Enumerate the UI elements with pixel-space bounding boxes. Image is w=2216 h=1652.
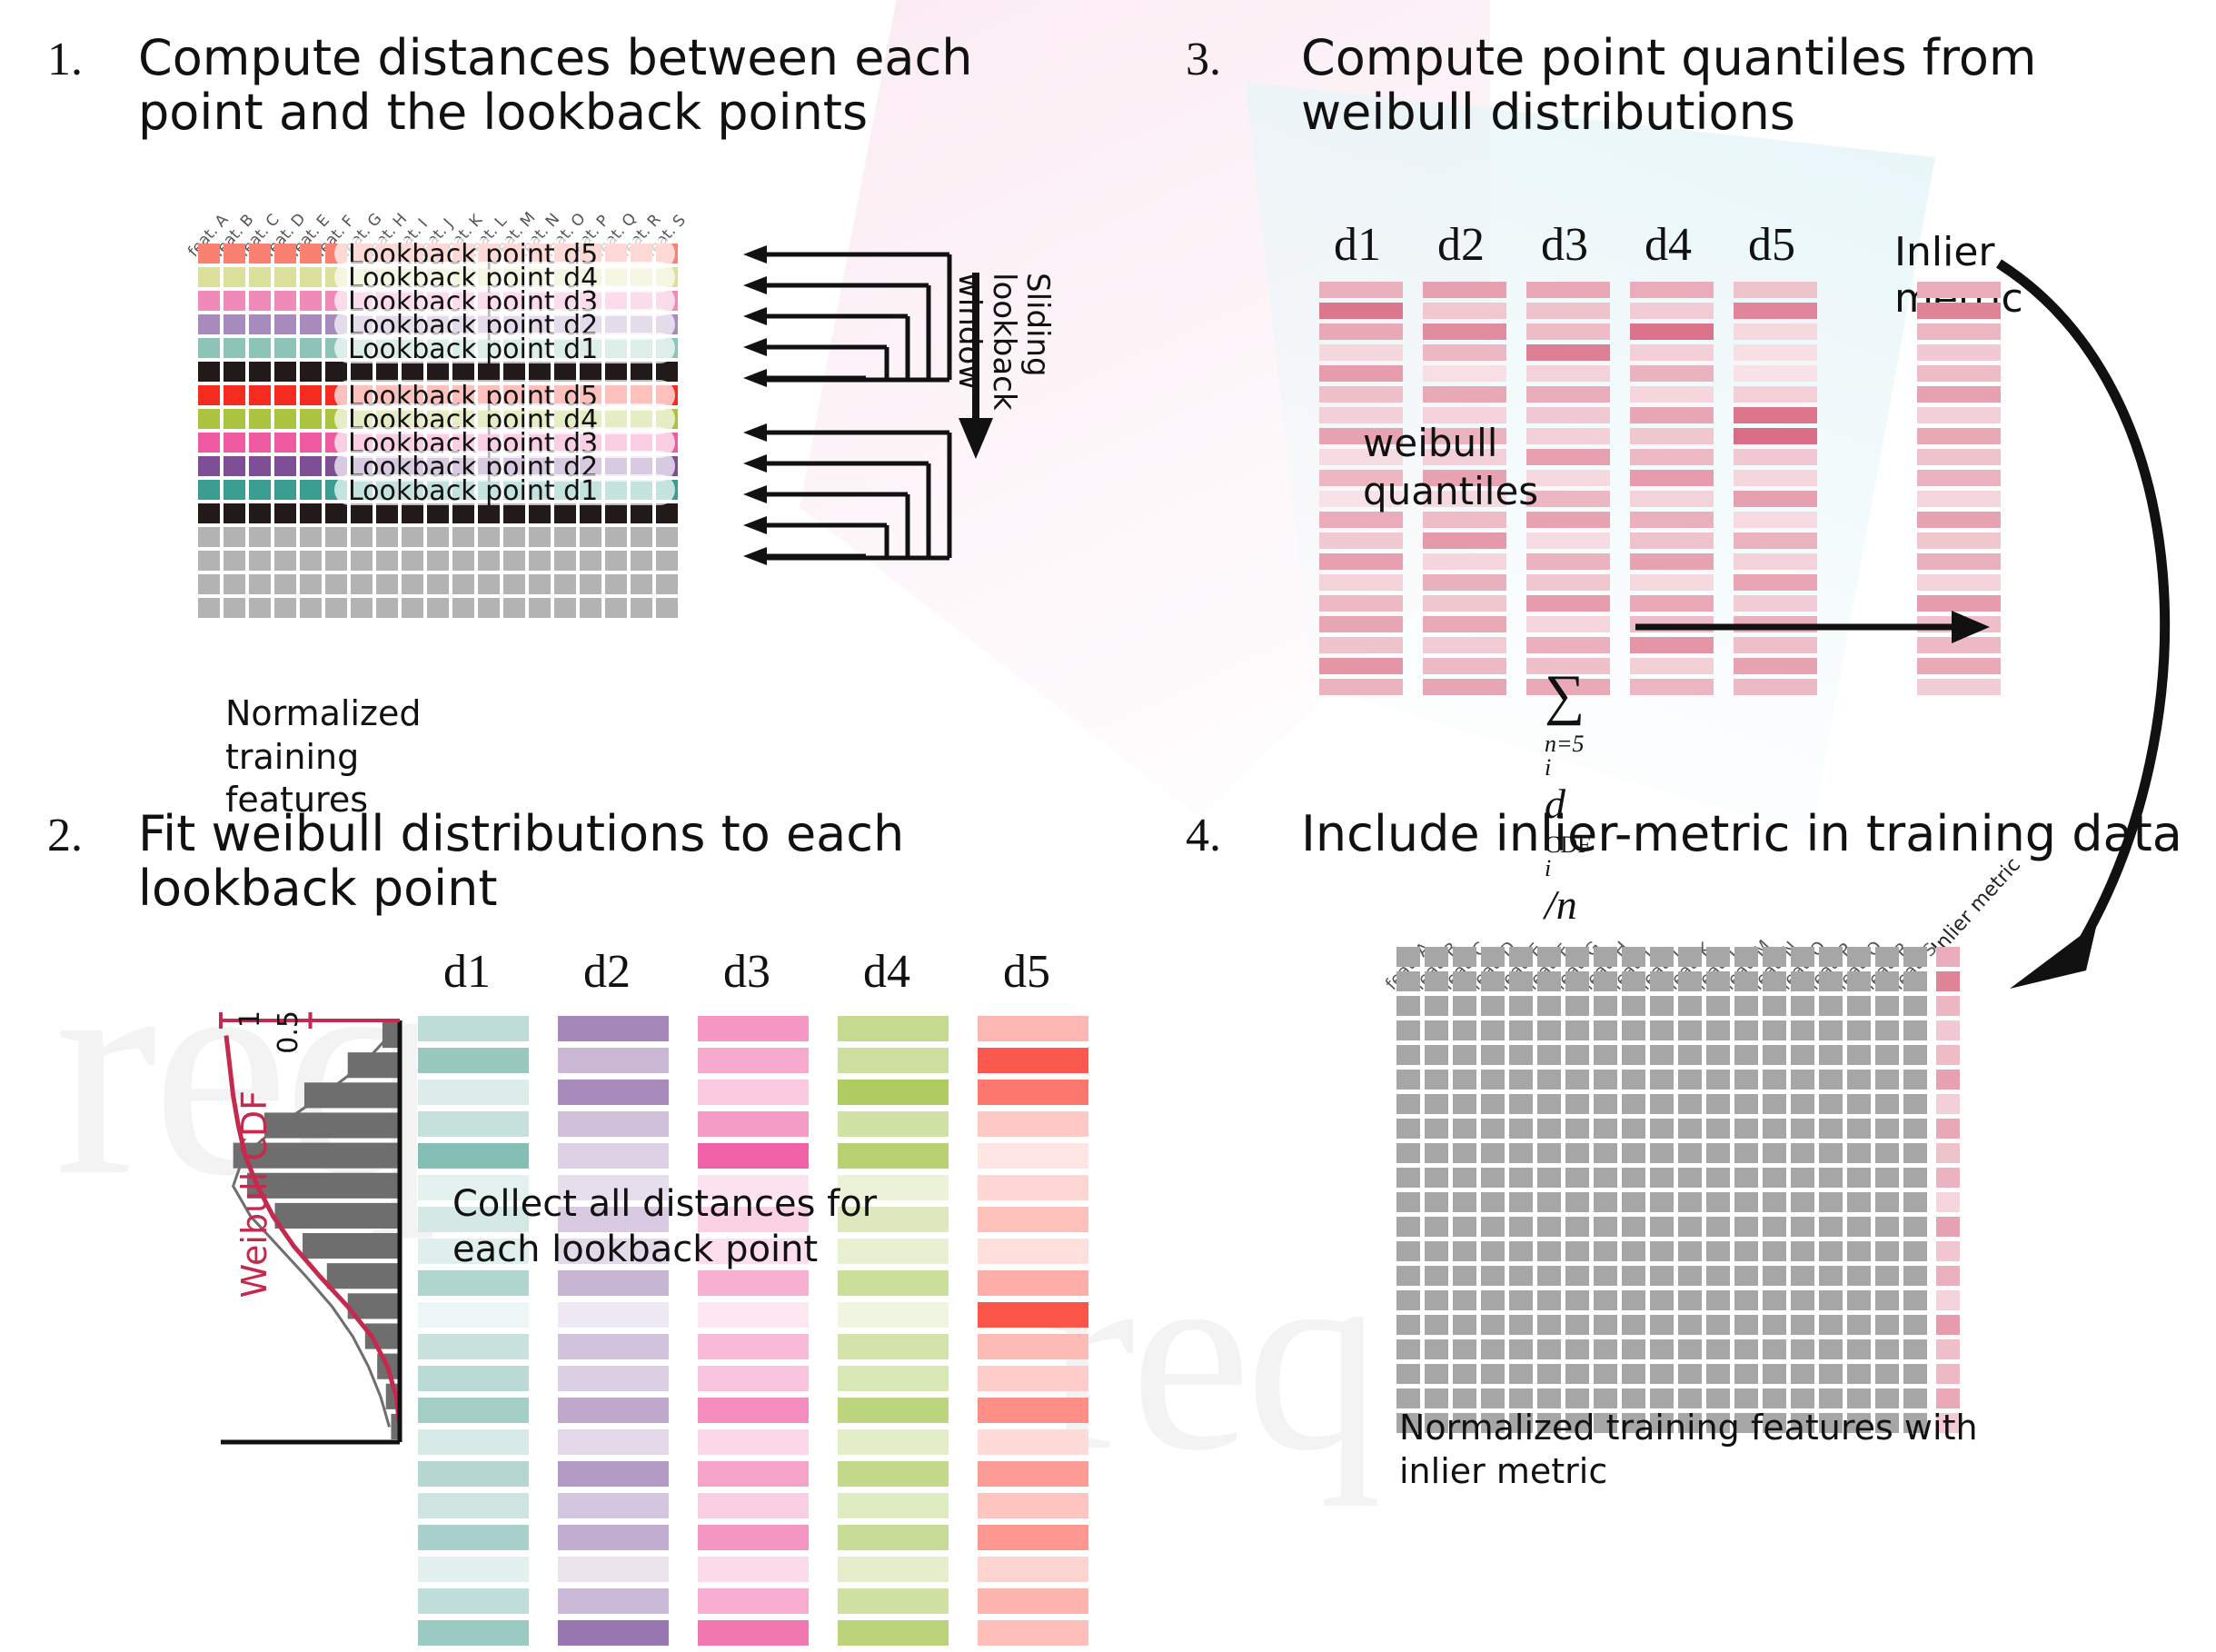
feature-cell xyxy=(1847,1119,1871,1139)
feature-cell xyxy=(1537,1241,1561,1261)
grid-cell xyxy=(300,527,322,547)
feature-cell xyxy=(1903,1192,1927,1212)
grid-cell xyxy=(427,551,449,571)
inlier-metric-cell xyxy=(1936,1070,1960,1090)
feature-cell xyxy=(1565,996,1589,1016)
grid-cell xyxy=(224,338,245,358)
feature-cell xyxy=(1594,1119,1617,1139)
feature-cell xyxy=(1734,1290,1758,1310)
quantile-cell xyxy=(1630,532,1714,549)
grid-cell xyxy=(503,574,525,594)
feature-cell xyxy=(1903,1364,1927,1384)
feature-cell xyxy=(1425,971,1448,991)
feature-cell xyxy=(1425,1070,1448,1090)
feature-cell xyxy=(1706,1290,1730,1310)
feature-cell xyxy=(1903,996,1927,1016)
feature-cell xyxy=(1678,1364,1702,1384)
distance-cell xyxy=(978,1175,1088,1200)
quantile-cell xyxy=(1423,658,1506,674)
inlier-metric-flow-arrow xyxy=(1944,254,2216,1009)
feature-cell xyxy=(1565,1094,1589,1114)
grid-cell xyxy=(300,480,322,500)
grid-cell xyxy=(631,598,652,618)
feature-cell xyxy=(1565,1364,1589,1384)
grid-cell xyxy=(224,291,245,311)
feature-cell xyxy=(1847,1020,1871,1040)
feature-cell xyxy=(1565,1020,1589,1040)
feature-cell xyxy=(1565,1070,1589,1090)
panel-2-number: 2. xyxy=(47,809,83,862)
grid-cell xyxy=(580,527,601,547)
quantile-cell xyxy=(1319,658,1403,674)
grid-cell xyxy=(249,503,271,523)
distance-cell xyxy=(698,1270,809,1296)
distance-cell xyxy=(978,1207,1088,1232)
feature-cell xyxy=(1565,971,1589,991)
grid-cell xyxy=(274,244,296,264)
feature-cell xyxy=(1903,1094,1927,1114)
distance-cell xyxy=(418,1048,529,1073)
grid-cell xyxy=(198,456,220,476)
feature-cell xyxy=(1565,1266,1589,1286)
distance-cell xyxy=(978,1302,1088,1328)
feature-cell xyxy=(1791,1094,1814,1114)
distance-cell xyxy=(978,1239,1088,1264)
feature-cell xyxy=(1537,1143,1561,1163)
feature-cell xyxy=(1706,996,1730,1016)
feature-cell xyxy=(1791,1119,1814,1139)
panel-3-d-label-d4: d4 xyxy=(1645,218,1692,272)
table-row xyxy=(1396,1168,1960,1188)
grid-row xyxy=(198,527,678,547)
feature-cell xyxy=(1509,1143,1533,1163)
grid-cell xyxy=(427,574,449,594)
quantile-cell xyxy=(1526,365,1610,382)
feature-cell xyxy=(1425,996,1448,1016)
grid-cell xyxy=(300,244,322,264)
feature-cell xyxy=(1734,1315,1758,1335)
inlier-metric-cell xyxy=(1936,1192,1960,1212)
distance-column-d5 xyxy=(978,1016,1088,1652)
feature-cell xyxy=(1875,1119,1899,1139)
feature-cell xyxy=(1791,1020,1814,1040)
quantile-cell xyxy=(1630,407,1714,423)
feature-cell xyxy=(1425,1364,1448,1384)
feature-cell xyxy=(1706,1315,1730,1335)
panel-2-d-label-d2: d2 xyxy=(583,945,631,999)
grid-cell xyxy=(249,385,271,405)
table-row xyxy=(1396,947,1960,967)
inlier-metric-cell xyxy=(1936,1217,1960,1237)
feature-cell xyxy=(1509,1266,1533,1286)
feature-cell xyxy=(1875,1217,1899,1237)
feature-cell xyxy=(1565,1241,1589,1261)
distance-cell xyxy=(698,1461,809,1487)
panel-2-d-label-d4: d4 xyxy=(863,945,910,999)
feature-cell xyxy=(1847,1339,1871,1359)
feature-cell xyxy=(1537,1020,1561,1040)
feature-cell xyxy=(1537,1339,1561,1359)
feature-cell xyxy=(1678,1241,1702,1261)
grid-cell xyxy=(631,527,652,547)
feature-cell xyxy=(1847,1168,1871,1188)
distance-cell xyxy=(838,1016,949,1041)
feature-cell xyxy=(1875,1241,1899,1261)
panel-1-feature-grid: Lookback point d5Lookback point d4Lookba… xyxy=(198,244,678,622)
feature-cell xyxy=(1622,947,1645,967)
distance-cell xyxy=(838,1143,949,1169)
feature-cell xyxy=(1594,1339,1617,1359)
feature-cell xyxy=(1594,1143,1617,1163)
grid-cell xyxy=(452,598,474,618)
feature-cell xyxy=(1537,1119,1561,1139)
feature-cell xyxy=(1875,1290,1899,1310)
feature-cell xyxy=(1481,1266,1505,1286)
feature-cell xyxy=(1509,1217,1533,1237)
distance-cell xyxy=(558,1302,669,1328)
grid-cell xyxy=(274,574,296,594)
distance-cell xyxy=(838,1302,949,1328)
feature-cell xyxy=(1706,1364,1730,1384)
feature-cell xyxy=(1453,1045,1476,1065)
feature-cell xyxy=(1594,971,1617,991)
quantile-cell xyxy=(1630,344,1714,361)
grid-cell xyxy=(274,409,296,429)
feature-cell xyxy=(1594,1364,1617,1384)
feature-cell xyxy=(1481,1143,1505,1163)
feature-cell xyxy=(1453,1339,1476,1359)
feature-cell xyxy=(1565,1217,1589,1237)
feature-cell xyxy=(1481,1315,1505,1335)
feature-cell xyxy=(1903,1217,1927,1237)
panel-3-number: 3. xyxy=(1186,33,1221,86)
feature-cell xyxy=(1481,1364,1505,1384)
feature-cell xyxy=(1763,1339,1786,1359)
quantile-cell xyxy=(1734,428,1817,444)
feature-cell xyxy=(1734,1094,1758,1114)
feature-cell xyxy=(1453,1388,1476,1408)
feature-cell xyxy=(1650,996,1674,1016)
feature-cell xyxy=(1819,1020,1843,1040)
feature-cell xyxy=(1396,1217,1420,1237)
grid-cell xyxy=(198,314,220,334)
formula-sum-symbol: ∑ xyxy=(1545,664,1585,726)
feature-cell xyxy=(1481,971,1505,991)
feature-cell xyxy=(1763,1217,1786,1237)
feature-cell xyxy=(1763,1364,1786,1384)
feature-cell xyxy=(1734,971,1758,991)
distance-cell xyxy=(418,1366,529,1391)
feature-cell xyxy=(1903,947,1927,967)
panel-4-feature-grid xyxy=(1396,947,1960,1438)
grid-cell xyxy=(300,338,322,358)
feature-cell xyxy=(1425,1315,1448,1335)
distance-column-d3 xyxy=(698,1016,809,1652)
feature-cell xyxy=(1678,1290,1702,1310)
feature-cell xyxy=(1847,1192,1871,1212)
grid-cell xyxy=(529,527,551,547)
quantile-cell xyxy=(1319,323,1403,340)
feature-cell xyxy=(1537,1315,1561,1335)
formula-divide-n: /n xyxy=(1545,881,1577,928)
grid-cell xyxy=(580,574,601,594)
feature-cell xyxy=(1650,1094,1674,1114)
quantile-cell xyxy=(1734,574,1817,591)
feature-cell xyxy=(1622,1388,1645,1408)
feature-cell xyxy=(1509,1119,1533,1139)
feature-cell xyxy=(1425,947,1448,967)
feature-cell xyxy=(1425,1266,1448,1286)
feature-cell xyxy=(1509,1168,1533,1188)
panel-3-d-label-d5: d5 xyxy=(1748,218,1795,272)
feature-cell xyxy=(1875,1045,1899,1065)
feature-cell xyxy=(1763,1045,1786,1065)
feature-cell xyxy=(1537,1168,1561,1188)
feature-cell xyxy=(1425,1168,1448,1188)
table-row xyxy=(1396,1143,1960,1163)
inlier-metric-cell xyxy=(1936,1045,1960,1065)
grid-cell xyxy=(249,527,271,547)
quantile-cell xyxy=(1319,637,1403,653)
grid-cell xyxy=(351,598,373,618)
feature-cell xyxy=(1763,1315,1786,1335)
feature-cell xyxy=(1537,1045,1561,1065)
grid-cell xyxy=(300,433,322,453)
feature-cell xyxy=(1734,1217,1758,1237)
grid-row xyxy=(198,551,678,571)
grid-cell xyxy=(402,574,423,594)
quantile-cell xyxy=(1734,407,1817,423)
feature-cell xyxy=(1678,996,1702,1016)
feature-cell xyxy=(1650,971,1674,991)
feature-cell xyxy=(1819,996,1843,1016)
feature-cell xyxy=(1622,1070,1645,1090)
grid-cell xyxy=(274,598,296,618)
grid-cell xyxy=(274,291,296,311)
grid-cell xyxy=(656,574,678,594)
distance-cell xyxy=(558,1048,669,1073)
feature-cell xyxy=(1706,1339,1730,1359)
feature-cell xyxy=(1453,1217,1476,1237)
feature-cell xyxy=(1678,1020,1702,1040)
feature-cell xyxy=(1734,1339,1758,1359)
feature-cell xyxy=(1678,1266,1702,1286)
feature-cell xyxy=(1678,947,1702,967)
feature-cell xyxy=(1791,971,1814,991)
feature-cell xyxy=(1763,1119,1786,1139)
grid-cell xyxy=(554,574,576,594)
distance-cell xyxy=(698,1557,809,1582)
feature-cell xyxy=(1509,1020,1533,1040)
quantile-cell xyxy=(1423,574,1506,591)
quantile-cell xyxy=(1526,449,1610,465)
quantile-cell xyxy=(1526,553,1610,570)
quantile-cell xyxy=(1734,553,1817,570)
distance-cell xyxy=(838,1366,949,1391)
quantile-cell xyxy=(1319,282,1403,298)
table-row xyxy=(1396,1020,1960,1040)
distance-cell xyxy=(418,1016,529,1041)
feature-cell xyxy=(1509,1315,1533,1335)
inlier-metric-formula: ∑ n=5 i d CDF i /n xyxy=(1545,663,1591,929)
distance-cell xyxy=(418,1429,529,1455)
quantile-cell xyxy=(1526,344,1610,361)
grid-cell xyxy=(580,551,601,571)
feature-cell xyxy=(1453,1290,1476,1310)
feature-cell xyxy=(1650,1241,1674,1261)
grid-cell xyxy=(274,551,296,571)
feature-cell xyxy=(1396,1045,1420,1065)
quantile-cell xyxy=(1630,449,1714,465)
distance-cell xyxy=(558,1143,669,1169)
feature-cell xyxy=(1819,971,1843,991)
feature-cell xyxy=(1706,1045,1730,1065)
feature-cell xyxy=(1678,1315,1702,1335)
distance-cell xyxy=(558,1398,669,1423)
quantile-cell xyxy=(1526,595,1610,612)
grid-cell xyxy=(325,503,347,523)
feature-cell xyxy=(1396,1388,1420,1408)
inlier-metric-cell xyxy=(1936,1388,1960,1408)
feature-cell xyxy=(1763,996,1786,1016)
feature-cell xyxy=(1678,1045,1702,1065)
grid-cell xyxy=(351,527,373,547)
feature-cell xyxy=(1706,1388,1730,1408)
quantile-cell xyxy=(1423,365,1506,382)
feature-cell xyxy=(1650,1217,1674,1237)
distance-cell xyxy=(978,1493,1088,1518)
distance-cell xyxy=(418,1461,529,1487)
feature-cell xyxy=(1819,1266,1843,1286)
feature-cell xyxy=(1847,947,1871,967)
sliding-window-label: Sliding lookback window xyxy=(952,273,1054,411)
grid-cell xyxy=(249,267,271,287)
grid-cell xyxy=(325,362,347,382)
feature-cell xyxy=(1481,1094,1505,1114)
panel-2-overlay-text: Collect all distances for each lookback … xyxy=(452,1181,925,1272)
grid-cell xyxy=(554,527,576,547)
feature-cell xyxy=(1678,1192,1702,1212)
distance-cell xyxy=(558,1111,669,1137)
distance-cell xyxy=(558,1334,669,1359)
feature-cell xyxy=(1453,971,1476,991)
distance-cell xyxy=(698,1366,809,1391)
distance-cell xyxy=(698,1016,809,1041)
quantile-cell xyxy=(1319,616,1403,632)
quantile-cell xyxy=(1630,323,1714,340)
distance-column-d2 xyxy=(558,1016,669,1652)
panel-1-arrows-bottom xyxy=(727,422,963,585)
quantile-cell xyxy=(1734,679,1817,695)
grid-cell xyxy=(478,598,500,618)
feature-cell xyxy=(1396,1339,1420,1359)
grid-cell xyxy=(503,527,525,547)
feature-cell xyxy=(1396,1070,1420,1090)
quantile-cell xyxy=(1734,323,1817,340)
feature-cell xyxy=(1791,1192,1814,1212)
quantile-cell xyxy=(1526,428,1610,444)
feature-cell xyxy=(1706,971,1730,991)
grid-cell xyxy=(249,456,271,476)
grid-cell xyxy=(249,244,271,264)
feature-cell xyxy=(1537,971,1561,991)
quantile-cell xyxy=(1526,386,1610,403)
quantile-cell xyxy=(1423,553,1506,570)
grid-cell xyxy=(351,574,373,594)
panel-2-d-label-d1: d1 xyxy=(443,945,491,999)
feature-cell xyxy=(1537,1364,1561,1384)
distance-cell xyxy=(978,1588,1088,1614)
quantile-cell xyxy=(1423,323,1506,340)
feature-cell xyxy=(1396,1364,1420,1384)
feature-cell xyxy=(1678,1388,1702,1408)
grid-cell xyxy=(529,574,551,594)
feature-cell xyxy=(1425,1020,1448,1040)
grid-cell xyxy=(376,527,398,547)
quantile-cell xyxy=(1734,449,1817,465)
distance-cell xyxy=(418,1557,529,1582)
quantile-cell xyxy=(1630,512,1714,528)
quantile-cell xyxy=(1630,553,1714,570)
feature-cell xyxy=(1791,947,1814,967)
distance-cell xyxy=(698,1334,809,1359)
quantile-cell xyxy=(1319,303,1403,319)
quantile-cell xyxy=(1734,386,1817,403)
feature-cell xyxy=(1734,1143,1758,1163)
distance-cell xyxy=(978,1525,1088,1550)
grid-cell xyxy=(224,267,245,287)
grid-cell xyxy=(300,385,322,405)
panel-2-title: Fit weibull distributions to each lookba… xyxy=(138,807,956,917)
feature-cell xyxy=(1565,1168,1589,1188)
feature-cell xyxy=(1537,947,1561,967)
feature-cell xyxy=(1706,1119,1730,1139)
panel-4-number: 4. xyxy=(1186,809,1221,862)
distance-cell xyxy=(418,1270,529,1296)
grid-cell xyxy=(224,433,245,453)
feature-cell xyxy=(1481,1045,1505,1065)
feature-cell xyxy=(1622,1315,1645,1335)
feature-cell xyxy=(1791,1266,1814,1286)
distance-cell xyxy=(978,1366,1088,1391)
table-row xyxy=(1396,1192,1960,1212)
distance-cell xyxy=(698,1111,809,1137)
distance-cell xyxy=(838,1557,949,1582)
quantile-cell xyxy=(1630,386,1714,403)
distance-cell xyxy=(698,1588,809,1614)
grid-cell xyxy=(198,574,220,594)
feature-cell xyxy=(1481,1119,1505,1139)
distance-cell xyxy=(558,1493,669,1518)
quantile-cell xyxy=(1734,595,1817,612)
feature-cell xyxy=(1622,996,1645,1016)
distance-cell xyxy=(418,1111,529,1137)
feature-cell xyxy=(1453,1020,1476,1040)
feature-cell xyxy=(1481,1339,1505,1359)
feature-cell xyxy=(1875,1168,1899,1188)
feature-cell xyxy=(1396,971,1420,991)
feature-cell xyxy=(1791,1143,1814,1163)
quantile-cell xyxy=(1526,574,1610,591)
grid-cell xyxy=(224,574,245,594)
quantile-cell xyxy=(1734,532,1817,549)
feature-cell xyxy=(1791,1290,1814,1310)
grid-cell xyxy=(300,362,322,382)
feature-cell xyxy=(1650,947,1674,967)
feature-cell xyxy=(1537,996,1561,1016)
feature-cell xyxy=(1565,1315,1589,1335)
quantile-cell xyxy=(1734,512,1817,528)
